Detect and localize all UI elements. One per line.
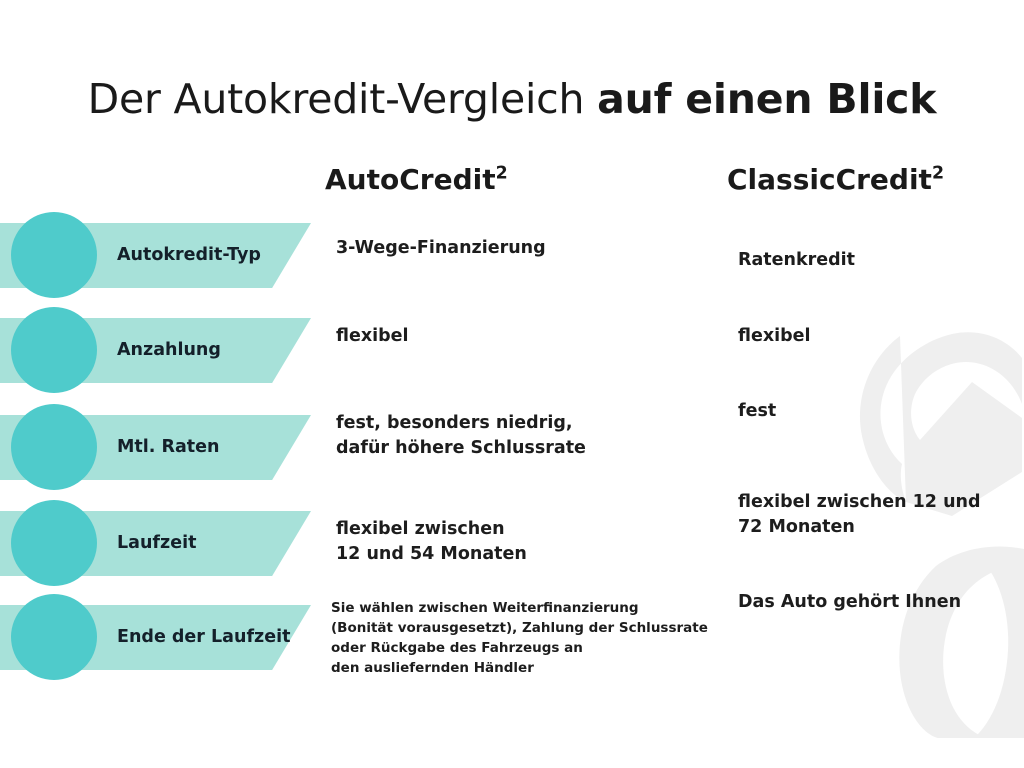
cell-autocredit-mtl-raten: fest, besonders niedrig, dafür höhere Sc… xyxy=(336,411,586,461)
row-bullet-icon xyxy=(11,500,97,586)
row-bullet-icon xyxy=(11,594,97,680)
row-label-laufzeit: Laufzeit xyxy=(117,511,302,576)
cell-autocredit-anzahlung: flexibel xyxy=(336,324,409,349)
column-header-autocredit-label: AutoCredit xyxy=(325,163,496,196)
page-title-bold: auf einen Blick xyxy=(597,75,936,123)
row-bullet-icon xyxy=(11,404,97,490)
cell-classiccredit-laufzeit: flexibel zwischen 12 und 72 Monaten xyxy=(738,490,981,540)
column-header-classiccredit-footnote: 2 xyxy=(932,164,944,184)
cell-classiccredit-anzahlung: flexibel xyxy=(738,324,811,349)
cell-autocredit-autokredit-typ: 3-Wege-Finanzierung xyxy=(336,236,546,261)
row-label-anzahlung: Anzahlung xyxy=(117,318,302,383)
row-label-mtl-raten: Mtl. Raten xyxy=(117,415,302,480)
column-header-classiccredit: ClassicCredit2 xyxy=(727,163,944,197)
cell-classiccredit-mtl-raten: fest xyxy=(738,399,776,424)
row-bullet-icon xyxy=(11,307,97,393)
cell-autocredit-ende-der-laufzeit: Sie wählen zwischen Weiterfinanzierung (… xyxy=(331,598,708,678)
cell-classiccredit-autokredit-typ: Ratenkredit xyxy=(738,248,855,273)
category-row-list: Autokredit-Typ Anzahlung Mtl. Raten Lauf… xyxy=(0,0,330,768)
cell-classiccredit-ende-der-laufzeit: Das Auto gehört Ihnen xyxy=(738,590,961,615)
column-header-autocredit-footnote: 2 xyxy=(496,164,508,184)
column-header-autocredit: AutoCredit2 xyxy=(325,163,508,197)
row-label-ende-der-laufzeit: Ende der Laufzeit xyxy=(117,605,302,670)
row-label-autokredit-typ: Autokredit-Typ xyxy=(117,223,302,288)
cell-autocredit-laufzeit: flexibel zwischen 12 und 54 Monaten xyxy=(336,517,527,567)
row-bullet-icon xyxy=(11,212,97,298)
column-header-classiccredit-label: ClassicCredit xyxy=(727,163,932,196)
